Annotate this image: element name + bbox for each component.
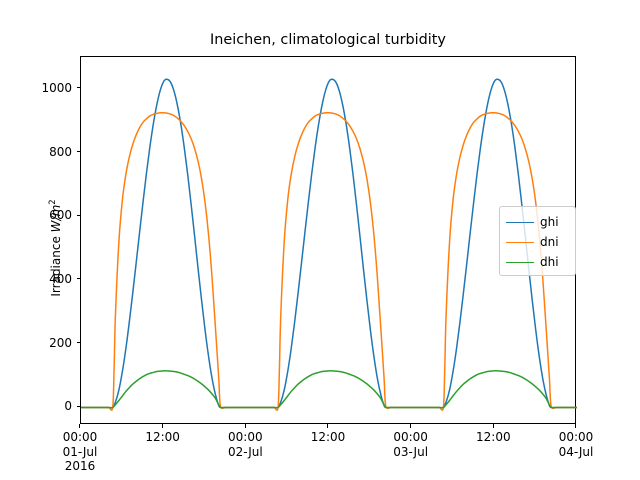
x-tick-label: 00:00 04-Jul <box>516 430 636 459</box>
chart-title: Ineichen, climatological turbidity <box>80 32 576 49</box>
legend-swatch-dhi <box>506 262 534 263</box>
y-tick-label: 1000 <box>41 82 72 94</box>
y-tick-label: 200 <box>49 337 72 349</box>
series-line-dhi <box>81 371 577 408</box>
legend-item-dni[interactable]: dni <box>500 233 577 253</box>
legend-item-ghi[interactable]: ghi <box>500 213 577 233</box>
matplotlib-figure: Ineichen, climatological turbidity Irrad… <box>0 0 640 480</box>
legend-label-dhi: dhi <box>540 255 559 270</box>
legend-swatch-dni <box>506 242 534 243</box>
legend-item-dhi[interactable]: dhi <box>500 253 577 273</box>
y-tick-label: 0 <box>64 400 72 412</box>
legend-label-dni: dni <box>540 235 559 250</box>
y-tick-label: 400 <box>49 273 72 285</box>
y-tick-label: 800 <box>49 146 72 158</box>
legend-swatch-ghi <box>506 222 534 223</box>
y-axis-label-prefix: Irradiance <box>49 232 63 296</box>
y-tick-label: 600 <box>49 209 72 221</box>
y-axis-label: Irradiance W/m2 <box>47 98 63 398</box>
legend-box[interactable]: ghidnidhi <box>499 206 576 276</box>
y-axis-label-exponent: 2 <box>47 199 57 204</box>
legend-label-ghi: ghi <box>540 215 559 230</box>
